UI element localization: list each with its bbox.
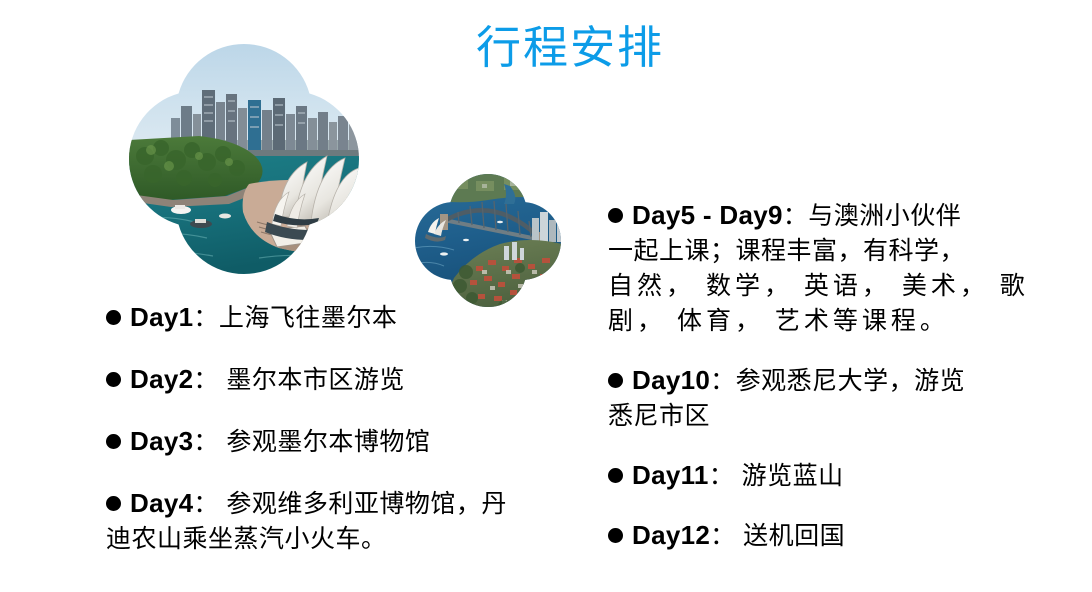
harbour-bridge-illustration [414,174,562,307]
itinerary-item-day3-line: Day3： 参观墨尔本博物馆 [106,424,536,460]
day-label: Day10 [632,365,710,395]
itinerary-item-day4: Day4： 参观维多利亚博物馆，丹 迪农山乘坐蒸汽小火车。 [106,486,536,557]
itinerary-item-day4-line: Day4： 参观维多利亚博物馆，丹 [106,486,536,522]
day-colon: ： [193,366,219,394]
day-description: 与澳洲小伙伴 [808,202,961,230]
day-colon: ： [193,490,219,518]
bullet-icon [106,496,121,511]
day-description: 参观墨尔本博物馆 [219,428,430,456]
day-colon: ： [709,462,735,490]
photo-harbour-bridge [414,174,562,307]
itinerary-item-day2-line: Day2： 墨尔本市区游览 [106,362,536,398]
day-label: Day4 [130,488,193,518]
itinerary-item-day11-line: Day11： 游览蓝山 [608,458,1000,494]
itinerary-item-day12-line: Day12： 送机回国 [608,518,1000,554]
day-colon: ： [193,428,219,456]
itinerary-column-left: Day1：上海飞往墨尔本 Day2： 墨尔本市区游览 Day3： 参观墨尔本博物… [106,300,536,557]
day-colon: ： [710,522,736,550]
bullet-icon [608,373,623,388]
day-colon: ： [193,304,219,332]
itinerary-item-day5-day9-line: Day5 - Day9：与澳洲小伙伴 [608,198,1000,234]
day-label: Day3 [130,426,193,456]
bullet-icon [106,310,121,325]
slide-canvas: 行程安排 [0,0,1092,592]
day-description-continued-3: 剧， 体育， 艺术等课程。 [608,304,1000,339]
day-description: 游览蓝山 [734,462,843,490]
day-label: Day12 [632,520,710,550]
day-label: Day1 [130,302,193,332]
photo-opera-house [129,44,359,274]
day-label: Day11 [632,460,709,490]
itinerary-item-day1: Day1：上海飞往墨尔本 [106,300,536,336]
day-description-continued: 悉尼市区 [608,399,1000,434]
bullet-icon [106,434,121,449]
day-label: Day2 [130,364,193,394]
day-colon: ： [783,202,809,230]
bullet-icon [608,468,623,483]
itinerary-item-day10: Day10：参观悉尼大学，游览 悉尼市区 [608,363,1000,434]
opera-house-illustration [129,44,359,274]
day-description: 参观维多利亚博物馆，丹 [219,490,507,518]
day-description: 参观悉尼大学，游览 [736,367,966,395]
itinerary-item-day5-day9: Day5 - Day9：与澳洲小伙伴 一起上课；课程丰富，有科学， 自然， 数学… [608,198,1000,339]
day-description: 上海飞往墨尔本 [219,304,398,332]
itinerary-item-day10-line: Day10：参观悉尼大学，游览 [608,363,1000,399]
day-label: Day5 - Day9 [632,200,783,230]
itinerary-column-right: Day5 - Day9：与澳洲小伙伴 一起上课；课程丰富，有科学， 自然， 数学… [608,198,1000,554]
bullet-icon [608,208,623,223]
day-description-continued: 迪农山乘坐蒸汽小火车。 [106,522,536,557]
day-description: 送机回国 [736,522,845,550]
itinerary-item-day12: Day12： 送机回国 [608,518,1000,554]
day-description: 墨尔本市区游览 [219,366,405,394]
itinerary-item-day3: Day3： 参观墨尔本博物馆 [106,424,536,460]
itinerary-item-day11: Day11： 游览蓝山 [608,458,1000,494]
day-description-continued: 一起上课；课程丰富，有科学， [608,234,1000,269]
day-description-continued-2: 自然， 数学， 英语， 美术， 歌 [608,269,1000,304]
itinerary-item-day2: Day2： 墨尔本市区游览 [106,362,536,398]
bullet-icon [608,528,623,543]
itinerary-item-day1-line: Day1：上海飞往墨尔本 [106,300,536,336]
day-colon: ： [710,367,736,395]
bullet-icon [106,372,121,387]
